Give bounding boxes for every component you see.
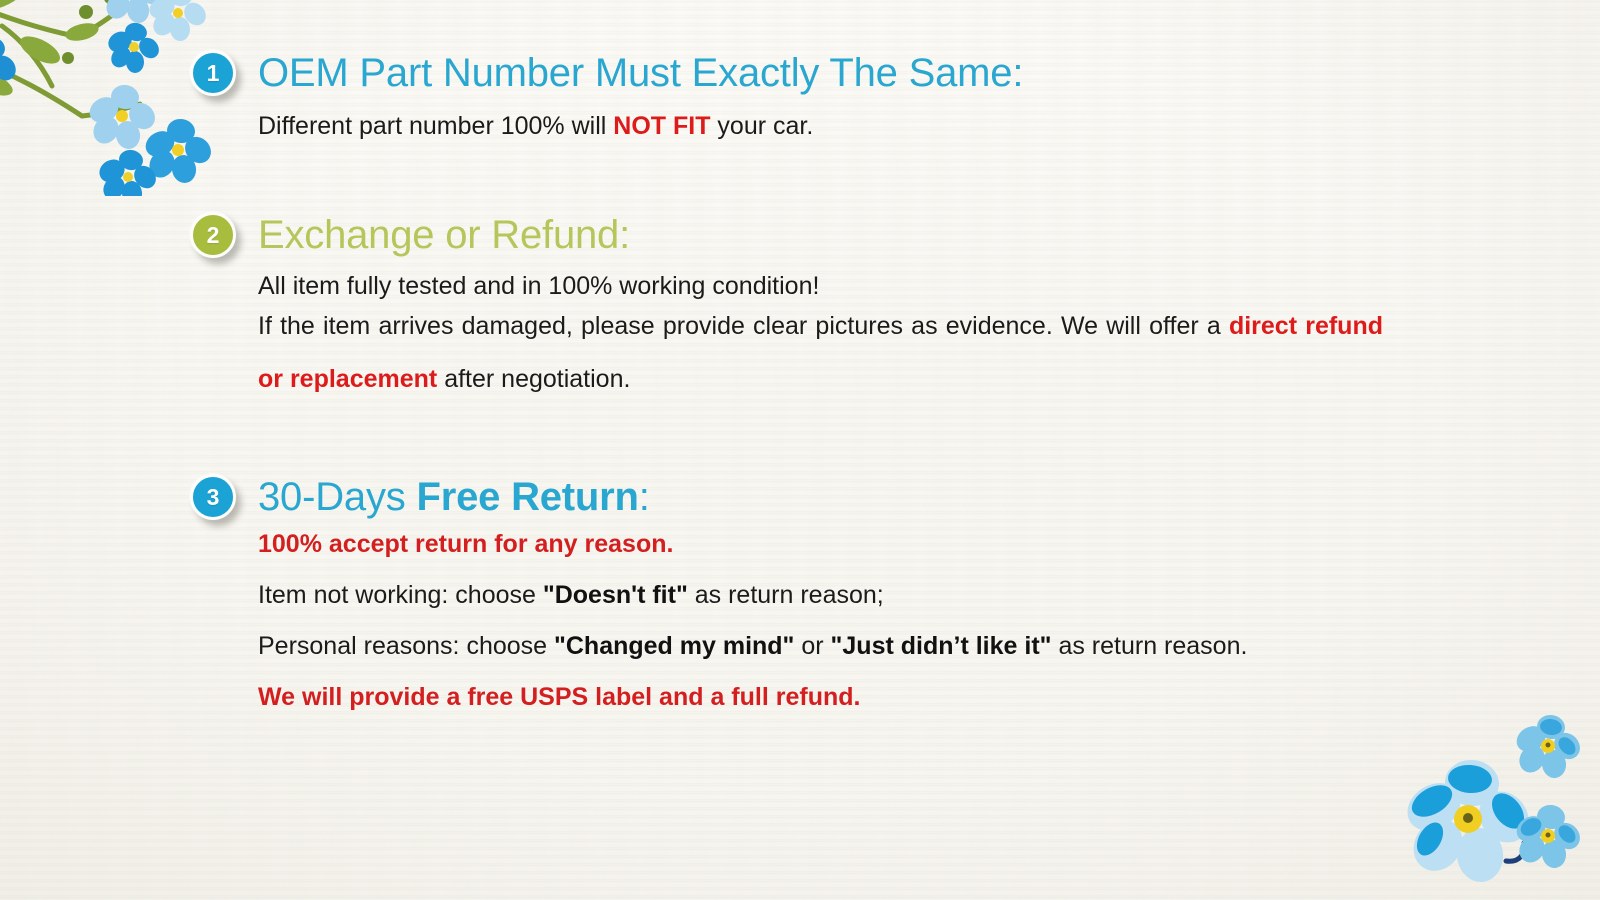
s3-l3-part-c: or (794, 632, 830, 660)
step-badge-2: 2 (190, 212, 236, 258)
section-1-heading: OEM Part Number Must Exactly The Same: (258, 52, 1023, 94)
section-1-line-1: Different part number 100% will NOT FIT … (258, 112, 1023, 140)
section-3-heading-row: 3 30-Days Free Return: (190, 468, 1247, 526)
step-badge-2-number: 2 (207, 224, 220, 247)
section-oem-part-number: 1 OEM Part Number Must Exactly The Same:… (190, 44, 1023, 140)
policy-content: 1 OEM Part Number Must Exactly The Same:… (0, 0, 1600, 900)
s3-heading-free-return: Free Return (416, 475, 638, 519)
section-3-line-2: Item not working: choose "Doesn't fit" a… (258, 581, 1247, 609)
section-2-body: All item fully tested and in 100% workin… (258, 272, 1383, 405)
section-2-line-1: All item fully tested and in 100% workin… (258, 272, 1383, 300)
step-badge-1: 1 (190, 50, 236, 96)
s2-p-part-c: after negotiation. (437, 365, 630, 393)
section-3-line-4: We will provide a free USPS label and a … (258, 683, 1247, 711)
section-2-heading: Exchange or Refund: (258, 214, 630, 256)
section-2-paragraph: If the item arrives damaged, please prov… (258, 300, 1383, 405)
s3-heading-days: 30-Days (258, 475, 416, 519)
section-2-heading-row: 2 Exchange or Refund: (190, 206, 1383, 264)
s3-l3-part-a: Personal reasons: choose (258, 632, 554, 660)
s3-heading-colon: : (639, 475, 650, 519)
s3-l2-part-a: Item not working: choose (258, 581, 543, 609)
section-free-return: 3 30-Days Free Return: 100% accept retur… (190, 468, 1247, 711)
s2-p-part-a: If the item arrives damaged, please prov… (258, 312, 1229, 340)
section-3-line-1: 100% accept return for any reason. (258, 530, 1247, 558)
section-exchange-or-refund: 2 Exchange or Refund: All item fully tes… (190, 206, 1383, 405)
s1-l1-part-a: Different part number 100% will (258, 112, 613, 140)
s3-l2-part-c: as return reason; (688, 581, 884, 609)
step-badge-3: 3 (190, 474, 236, 520)
s1-l1-part-c: your car. (710, 112, 813, 140)
s3-l2-doesnt-fit: "Doesn't fit" (543, 581, 688, 609)
step-badge-3-number: 3 (207, 486, 220, 509)
s3-l3-just-didnt-like-it: "Just didn’t like it" (831, 632, 1052, 660)
step-badge-1-number: 1 (207, 62, 220, 85)
section-3-line-3: Personal reasons: choose "Changed my min… (258, 632, 1247, 660)
section-3-heading: 30-Days Free Return: (258, 476, 650, 518)
s3-l3-changed-my-mind: "Changed my mind" (554, 632, 794, 660)
s3-l3-part-e: as return reason. (1052, 632, 1248, 660)
section-3-body: 100% accept return for any reason. Item … (258, 530, 1247, 711)
section-1-body: Different part number 100% will NOT FIT … (258, 112, 1023, 140)
s1-l1-not-fit: NOT FIT (613, 112, 710, 140)
section-1-heading-row: 1 OEM Part Number Must Exactly The Same: (190, 44, 1023, 102)
